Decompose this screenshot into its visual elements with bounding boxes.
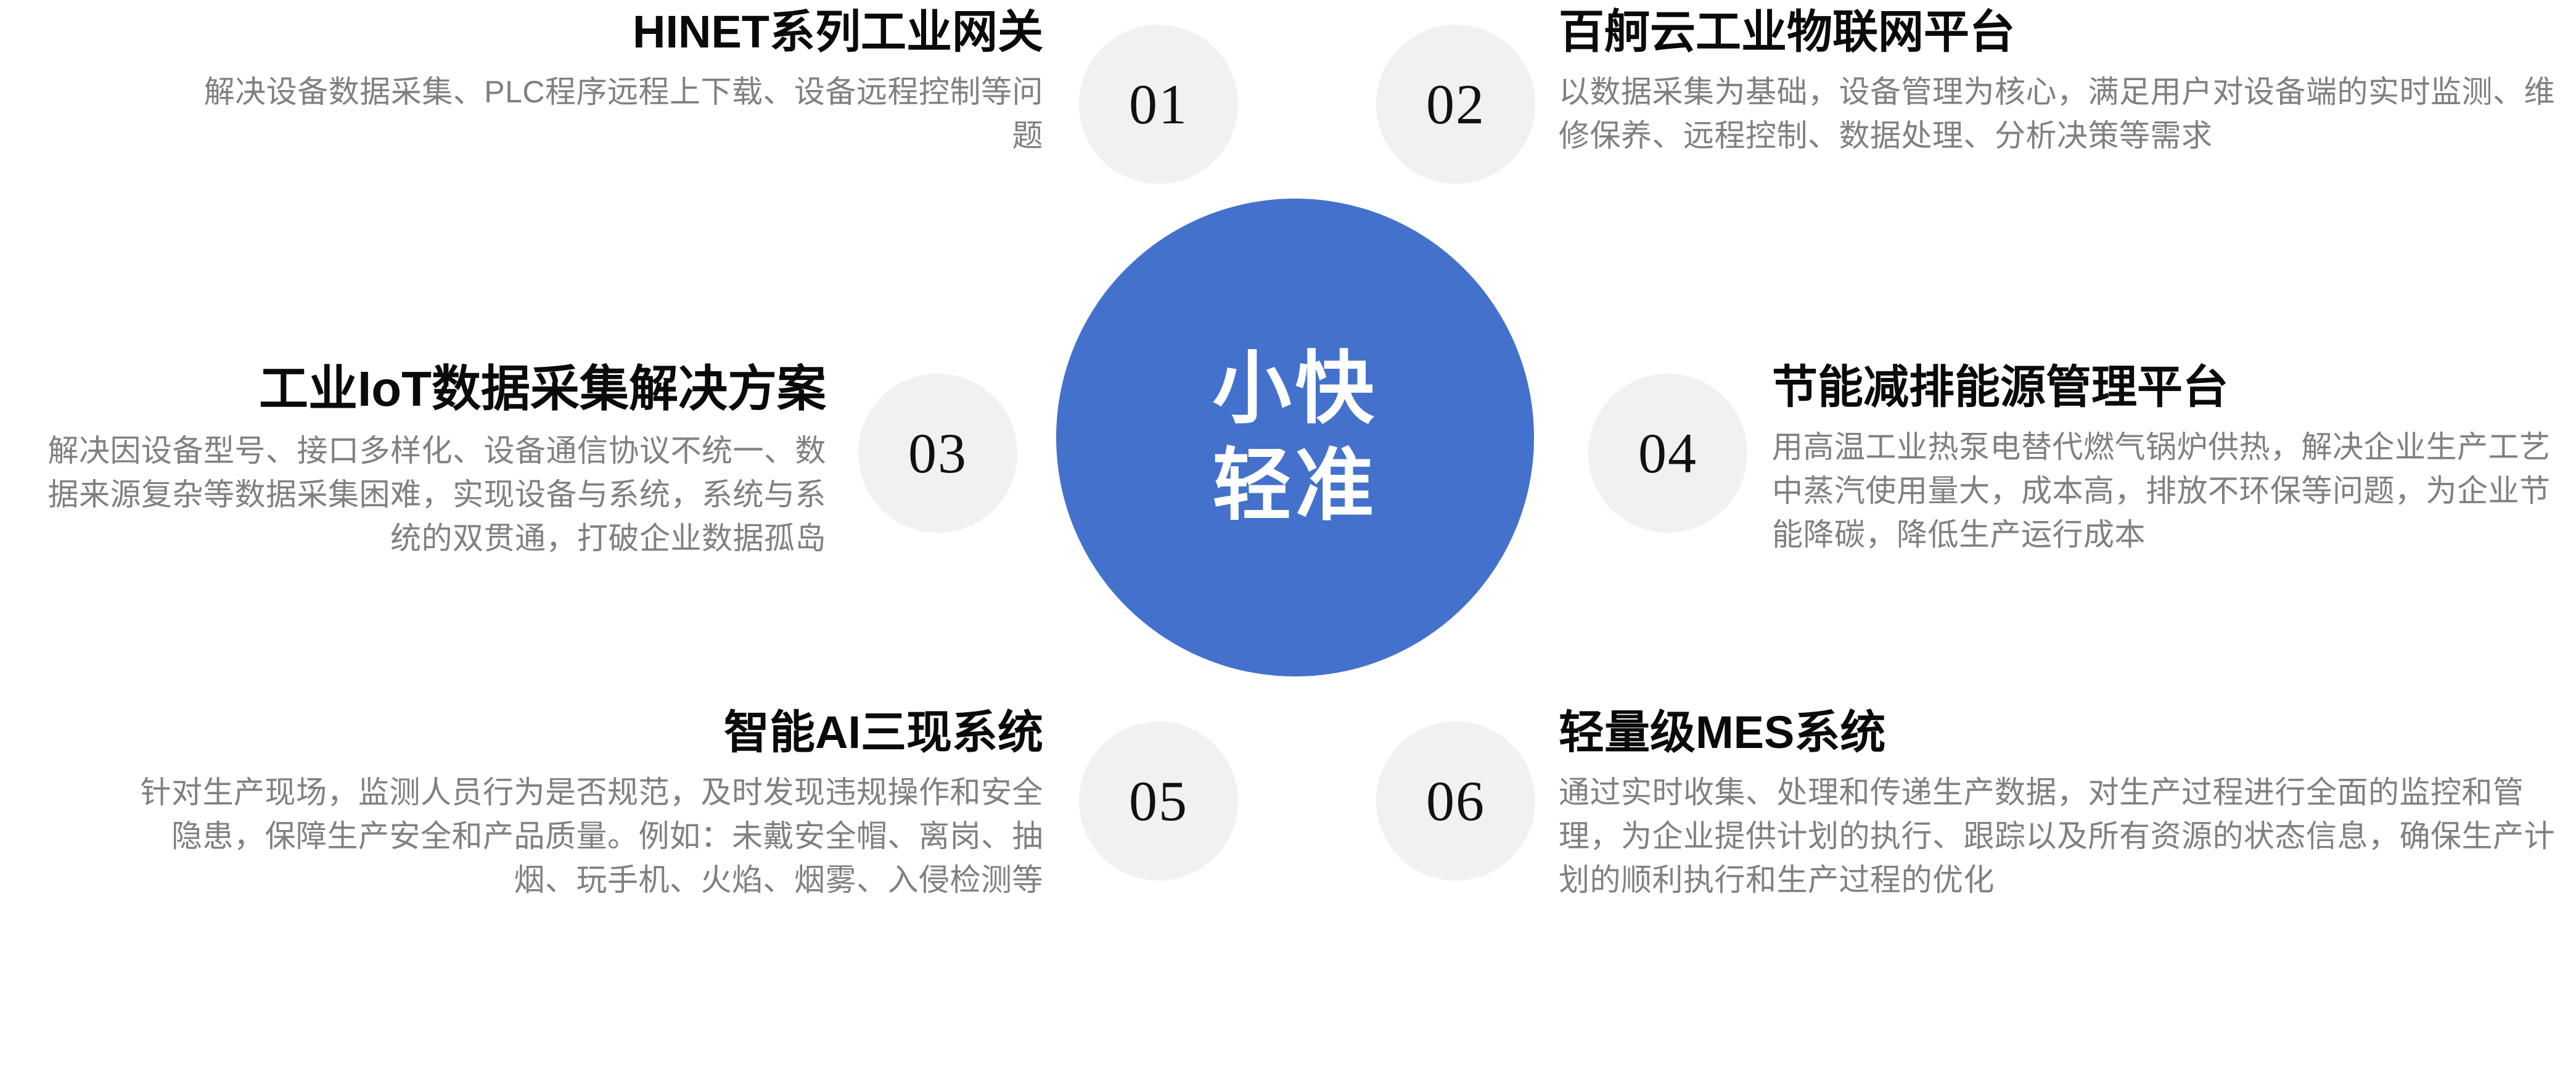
number-badge-02-label: 02 — [1426, 76, 1485, 133]
item-04-description: 用高温工业热泵电替代燃气锅炉供热，解决企业生产工艺中蒸汽使用量大，成本高，排放不… — [1772, 425, 2561, 557]
item-06-description: 通过实时收集、处理和传递生产数据，对生产过程进行全面的监控和管理，为企业提供计划… — [1559, 771, 2558, 902]
item-block-06: 轻量级MES系统 通过实时收集、处理和传递生产数据，对生产过程进行全面的监控和管… — [1559, 708, 2558, 902]
item-block-02: 百舸云工业物联网平台 以数据采集为基础，设备管理为核心，满足用户对设备端的实时监… — [1559, 7, 2558, 158]
center-hub-circle: 小快 轻准 — [1056, 199, 1534, 676]
number-badge-05-label: 05 — [1129, 773, 1188, 829]
item-05-title: 智能AI三现系统 — [117, 708, 1043, 757]
item-01-description: 解决设备数据采集、PLC程序远程上下载、设备远程控制等问题 — [185, 70, 1043, 158]
number-badge-01-label: 01 — [1129, 76, 1188, 133]
item-06-title: 轻量级MES系统 — [1559, 708, 2558, 757]
item-block-05: 智能AI三现系统 针对生产现场，监测人员行为是否规范，及时发现违规操作和安全隐患… — [117, 708, 1043, 902]
item-05-description: 针对生产现场，监测人员行为是否规范，及时发现违规操作和安全隐患，保障生产安全和产… — [117, 771, 1043, 902]
item-03-title: 工业IoT数据采集解决方案 — [25, 363, 826, 416]
item-block-04: 节能减排能源管理平台 用高温工业热泵电替代燃气锅炉供热，解决企业生产工艺中蒸汽使… — [1772, 363, 2561, 557]
item-04-title: 节能减排能源管理平台 — [1772, 363, 2561, 412]
number-badge-03-label: 03 — [908, 425, 967, 482]
number-badge-04[interactable]: 04 — [1588, 374, 1747, 533]
hub-text-line-1: 小快 — [1212, 341, 1377, 437]
number-badge-06[interactable]: 06 — [1376, 721, 1535, 881]
item-02-title: 百舸云工业物联网平台 — [1559, 7, 2558, 57]
item-block-03: 工业IoT数据采集解决方案 解决因设备型号、接口多样化、设备通信协议不统一、数据… — [25, 363, 826, 561]
number-badge-06-label: 06 — [1426, 773, 1485, 829]
number-badge-02[interactable]: 02 — [1376, 25, 1535, 184]
item-03-description: 解决因设备型号、接口多样化、设备通信协议不统一、数据来源复杂等数据采集困难，实现… — [25, 429, 826, 561]
number-badge-04-label: 04 — [1638, 425, 1697, 482]
number-badge-05[interactable]: 05 — [1079, 721, 1238, 881]
hub-text-line-2: 轻准 — [1212, 438, 1377, 534]
item-01-title: HINET系列工业网关 — [185, 7, 1043, 57]
infographic-canvas: 小快 轻准 01 02 03 04 05 06 HINET系列工业网关 解决设备… — [0, 0, 2576, 1068]
number-badge-01[interactable]: 01 — [1079, 25, 1238, 184]
number-badge-03[interactable]: 03 — [858, 374, 1017, 533]
item-block-01: HINET系列工业网关 解决设备数据采集、PLC程序远程上下载、设备远程控制等问… — [185, 7, 1043, 158]
item-02-description: 以数据采集为基础，设备管理为核心，满足用户对设备端的实时监测、维修保养、远程控制… — [1559, 70, 2558, 158]
